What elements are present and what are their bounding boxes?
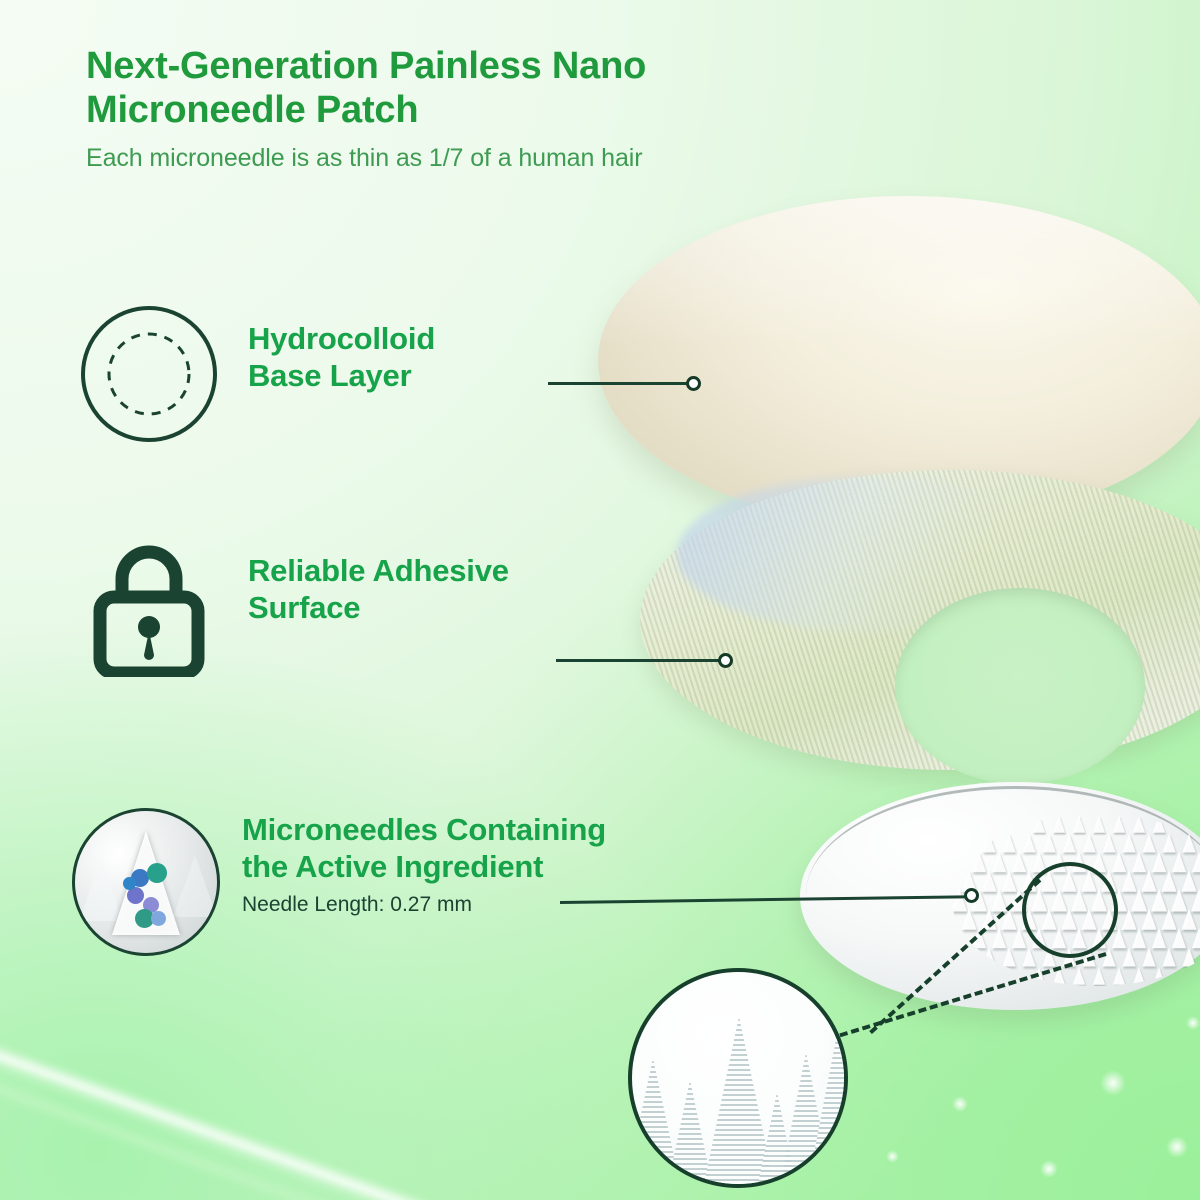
feature-text-adhesive: Reliable Adhesive Surface [248, 535, 509, 626]
magnified-microneedle [780, 1052, 832, 1184]
microneedle-spike [1101, 870, 1116, 892]
microneedle-spike [1002, 834, 1015, 853]
microneedle-spike [961, 908, 976, 930]
callout-dot-hydrocolloid [686, 376, 701, 391]
microneedle-spike [1142, 834, 1155, 853]
adhesive-ring-layer [640, 470, 1200, 770]
microneedle-spike [1161, 908, 1176, 930]
microneedle-spike [1141, 908, 1156, 930]
microneedle-spike [1093, 967, 1105, 985]
microneedle-spike [1041, 870, 1056, 892]
microneedle-spike [1182, 948, 1195, 967]
bokeh-dot [1100, 1070, 1126, 1096]
microneedle-spike [1062, 948, 1075, 967]
microneedle-spike [1061, 908, 1076, 930]
microneedle-spike [1072, 852, 1086, 872]
microneedle-spike [1132, 928, 1146, 948]
bokeh-dot [886, 1150, 899, 1163]
hydrocolloid-disc-highlight [598, 196, 1200, 526]
hydrocolloid-disc-layer [598, 196, 1200, 526]
magnified-microneedle [668, 1080, 712, 1184]
microneedle-spike [1053, 815, 1065, 833]
microneedle-spike [1182, 834, 1195, 853]
microneedle-spike [1092, 928, 1106, 948]
microneedle-spike [1152, 928, 1166, 948]
magnified-microneedle [704, 1016, 774, 1184]
bokeh-dot [1166, 1136, 1188, 1158]
feature-text-microneedles: Microneedles Containing the Active Ingre… [242, 808, 606, 917]
microneedle-spike [1002, 948, 1015, 967]
microneedle-spike [1091, 889, 1107, 912]
microneedle-spike [1111, 889, 1127, 912]
microneedle-spike [1141, 870, 1156, 892]
microneedle-spike [1192, 928, 1200, 948]
active-ingredient-particle [147, 863, 167, 883]
microneedle-spike [991, 889, 1007, 912]
infographic-poster: Next-Generation Painless Nano Microneedl… [0, 0, 1200, 1200]
needle-length-value: Needle Length: 0.27 mm [242, 893, 606, 917]
microneedle-spike [1073, 815, 1085, 833]
microneedle-spike [1133, 967, 1145, 985]
microneedle-spike [1001, 908, 1016, 930]
microneedle-spike [1191, 889, 1200, 912]
active-ingredient-particle [151, 911, 166, 926]
microneedle-spike [1113, 815, 1125, 833]
microneedle-spike [992, 852, 1006, 872]
microneedle-spike [1093, 815, 1105, 833]
microneedle-spike [1032, 928, 1046, 948]
magnified-microneedle [758, 1092, 796, 1184]
microneedle-spike [1113, 967, 1125, 985]
dashed-circle-icon [78, 303, 220, 445]
zoom-connector-dashed-upper [869, 879, 1041, 1035]
microneedle-spike [1152, 852, 1166, 872]
microneedle-spike [1022, 834, 1035, 853]
microneedle-spike [1032, 852, 1046, 872]
feature-row-adhesive: Reliable Adhesive Surface [78, 535, 509, 677]
bokeh-dot [1186, 1016, 1200, 1030]
feature-label: Microneedles Containing the Active Ingre… [242, 812, 606, 885]
adhesive-ring-iridescence [677, 476, 1061, 632]
microneedle-spike [982, 948, 995, 967]
microneedle-spike [1102, 948, 1115, 967]
microneedle-spike [1192, 852, 1200, 872]
microneedle-spike [1052, 852, 1066, 872]
microneedle-spike [1073, 967, 1085, 985]
page-title: Next-Generation Painless Nano Microneedl… [86, 44, 846, 132]
microneedle-spike [1081, 870, 1096, 892]
microneedle-spike [1101, 908, 1116, 930]
microneedle-spike [1133, 815, 1145, 833]
microneedle-spike [1122, 948, 1135, 967]
feature-text-hydrocolloid: Hydrocolloid Base Layer [248, 303, 435, 394]
light-streak-decoration-secondary [0, 1010, 573, 1200]
magnified-microneedle [628, 1058, 680, 1184]
feature-label: Hydrocolloid Base Layer [248, 321, 435, 394]
microneedle-spike [1021, 870, 1036, 892]
active-ingredient-particle [123, 877, 136, 890]
microneedle-spike [1121, 870, 1136, 892]
microneedle-spike [981, 908, 996, 930]
microneedle-spike [1181, 870, 1196, 892]
microneedle-spike [1172, 852, 1186, 872]
microneedle-spike [1033, 967, 1045, 985]
microneedle-spike [1042, 834, 1055, 853]
bokeh-dot [1040, 1160, 1058, 1178]
feature-row-hydrocolloid: Hydrocolloid Base Layer [78, 303, 435, 445]
microneedle-spike [1061, 870, 1076, 892]
microneedle-spike [982, 834, 995, 853]
microneedle-spike [1051, 889, 1067, 912]
microneedle-spike [1112, 852, 1126, 872]
lock-icon [78, 535, 220, 677]
microneedle-spike [1153, 967, 1165, 985]
callout-line-hydrocolloid [548, 382, 694, 385]
microneedle-spike [1082, 834, 1095, 853]
microneedle-spike [1172, 928, 1186, 948]
microneedle-spike [1161, 870, 1176, 892]
microneedle-spike [1012, 928, 1026, 948]
bokeh-dot [952, 1096, 968, 1112]
microneedle-spike [1121, 908, 1136, 930]
microneedle-spike [1131, 889, 1147, 912]
microneedle-spike [1072, 928, 1086, 948]
microneedle-spike [1021, 908, 1036, 930]
magnified-microneedle [808, 1034, 848, 1184]
microneedle-spike [981, 870, 996, 892]
microneedle-spike [1062, 834, 1075, 853]
microneedle-array [952, 814, 1200, 986]
header-block: Next-Generation Painless Nano Microneedl… [86, 44, 846, 173]
page-subtitle: Each microneedle is as thin as 1/7 of a … [86, 144, 846, 173]
microneedle-spike [1012, 852, 1026, 872]
adhesive-ring-hole [895, 588, 1145, 784]
callout-line-microneedles [560, 895, 972, 904]
microneedle-spike [1052, 928, 1066, 948]
microneedle-spike [992, 928, 1006, 948]
callout-dot-microneedles [964, 888, 979, 903]
microneedle-spike [1081, 908, 1096, 930]
microneedle-spike [1102, 834, 1115, 853]
microneedle-spike [972, 928, 986, 948]
microneedle-spike [1162, 834, 1175, 853]
microneedle-spike [1162, 948, 1175, 967]
feature-label: Reliable Adhesive Surface [248, 553, 509, 626]
microneedle-photo-icon [72, 808, 214, 950]
zoom-connector-dashed-lower [828, 952, 1106, 1041]
microneedle-spike [1092, 852, 1106, 872]
microneedle-spike [1041, 908, 1056, 930]
microneedle-spike [1082, 948, 1095, 967]
microneedle-spike [1171, 889, 1187, 912]
callout-dot-adhesive [718, 653, 733, 668]
microneedle-spike [1042, 948, 1055, 967]
microneedle-spike [1022, 948, 1035, 967]
needle-zoom-highlight-circle [1022, 862, 1118, 958]
feature-row-microneedles: Microneedles Containing the Active Ingre… [72, 808, 606, 950]
callout-line-adhesive [556, 659, 726, 662]
light-streak-decoration [0, 981, 539, 1200]
microneedle-spike [1122, 834, 1135, 853]
microneedle-magnified-inset [628, 968, 848, 1188]
microneedle-spike [1001, 870, 1016, 892]
microneedle-spike [1132, 852, 1146, 872]
microneedle-spike [1033, 815, 1045, 833]
microneedle-spike [1151, 889, 1167, 912]
microneedle-spike [1153, 815, 1165, 833]
microneedle-spike [1142, 948, 1155, 967]
microneedle-spike [1112, 928, 1126, 948]
microneedle-spike [1071, 889, 1087, 912]
microneedle-disc-rim [806, 786, 1200, 1003]
microneedle-spike [1011, 889, 1027, 912]
microneedle-spike [1031, 889, 1047, 912]
microneedle-spike [1181, 908, 1196, 930]
microneedle-spike [972, 852, 986, 872]
microneedle-spike [1053, 967, 1065, 985]
